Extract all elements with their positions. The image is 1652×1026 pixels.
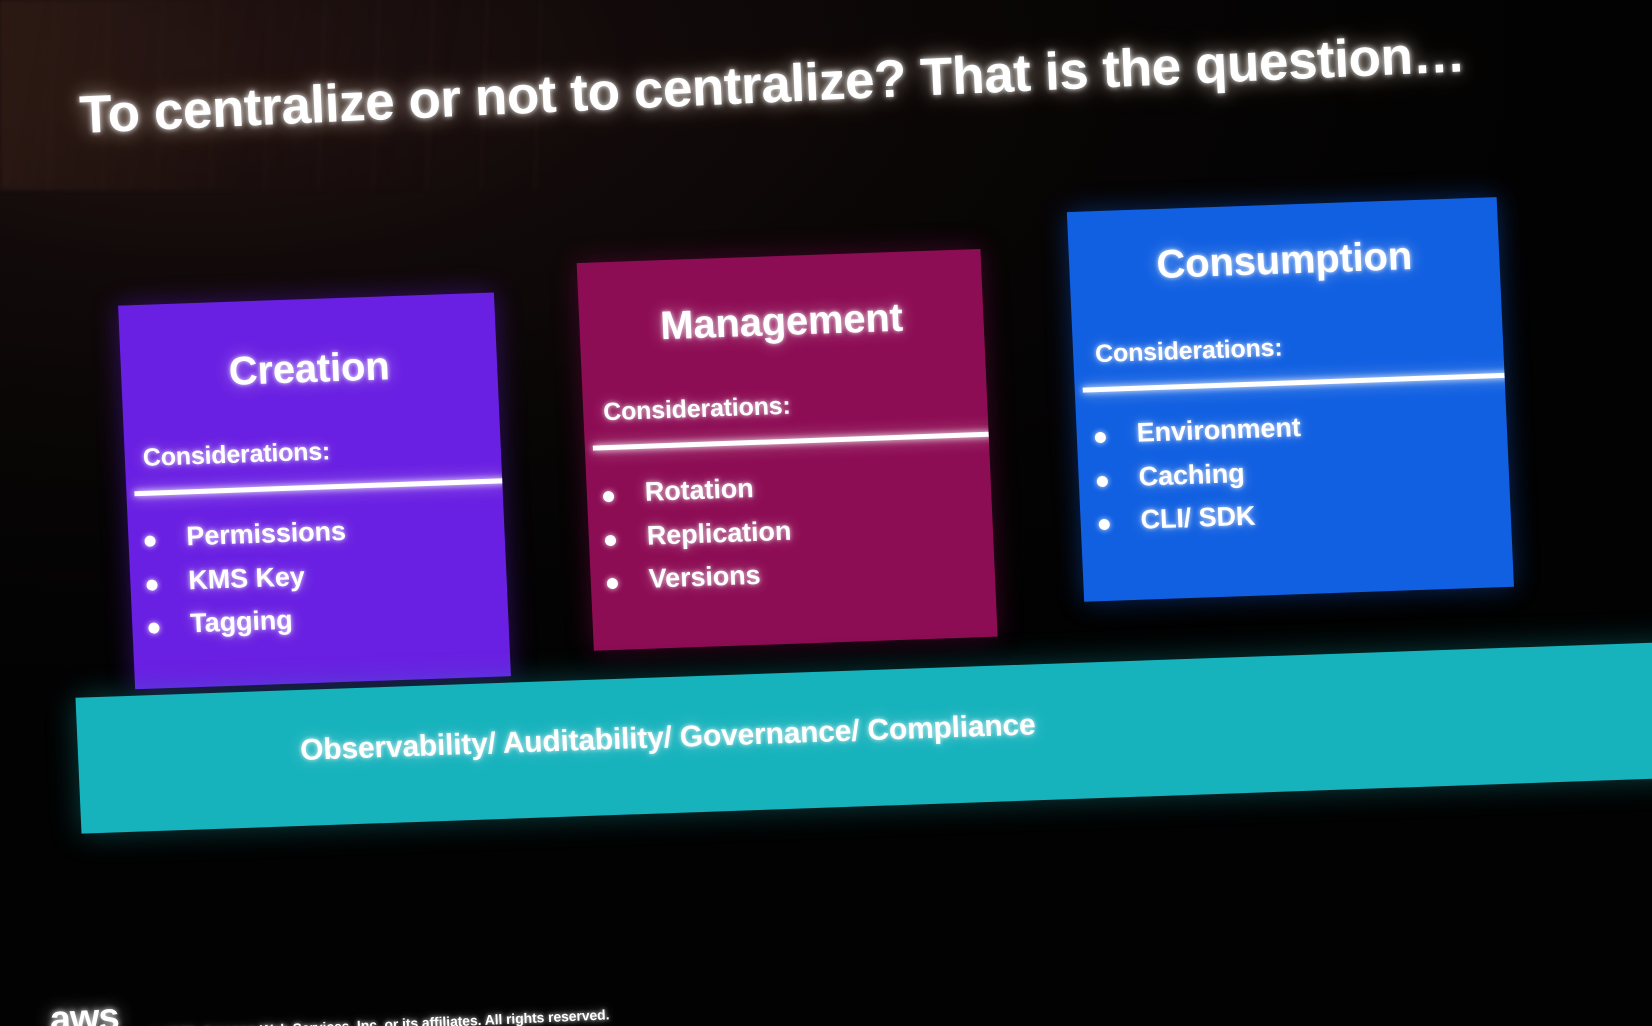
slide-photo: To centralize or not to centralize? That… <box>0 0 1652 1026</box>
slide-title: To centralize or not to centralize? That… <box>78 18 1579 146</box>
aws-wordmark: aws <box>49 998 119 1026</box>
list-item: Permissions <box>137 510 346 561</box>
list-item: Replication <box>598 510 792 560</box>
card-consumption-bullet-list: Environment Caching CLI/ SDK <box>1088 406 1306 544</box>
list-item: KMS Key <box>139 554 348 605</box>
list-item: Caching <box>1090 450 1304 501</box>
card-creation-bullet-list: Permissions KMS Key Tagging <box>137 510 350 648</box>
list-item: Environment <box>1088 406 1302 457</box>
slide-footer: aws © 2025, Amazon Web Services, Inc. or… <box>0 914 1652 1026</box>
aws-logo-icon: aws <box>49 998 129 1026</box>
list-item: Versions <box>600 553 794 603</box>
card-management-subheading: Considerations: <box>603 392 791 428</box>
card-creation: Creation Considerations: Permissions KMS… <box>118 293 511 690</box>
card-management-divider <box>593 432 993 451</box>
card-consumption-title: Consumption <box>1068 231 1500 291</box>
presentation-slide: To centralize or not to centralize? That… <box>0 0 1652 1026</box>
card-management-bullet-list: Rotation Replication Versions <box>596 466 794 604</box>
card-management: Management Considerations: Rotation Repl… <box>577 249 998 651</box>
list-item: CLI/ SDK <box>1092 493 1306 544</box>
card-management-title: Management <box>579 293 985 352</box>
card-creation-title: Creation <box>120 340 498 398</box>
card-creation-divider <box>134 478 506 496</box>
card-consumption: Consumption Considerations: Environment … <box>1067 197 1514 602</box>
card-creation-subheading: Considerations: <box>142 437 330 473</box>
card-consumption-divider <box>1083 371 1514 392</box>
foundation-banner-text: Observability/ Auditability/ Governance/… <box>77 701 1258 776</box>
list-item: Tagging <box>141 597 350 648</box>
copyright-text: © 2025, Amazon Web Services, Inc. or its… <box>150 1006 609 1026</box>
list-item: Rotation <box>596 466 790 516</box>
card-consumption-subheading: Considerations: <box>1095 334 1283 370</box>
